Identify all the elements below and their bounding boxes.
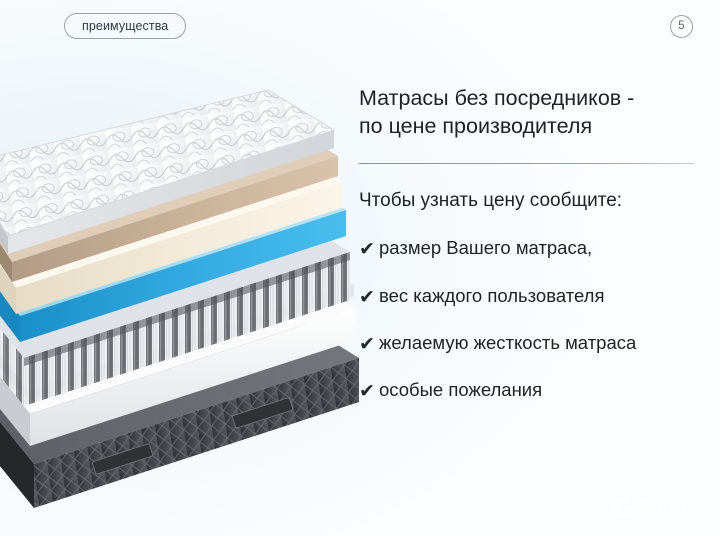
check-icon: ✔ xyxy=(359,335,379,354)
check-icon: ✔ xyxy=(359,382,379,401)
list-item-label: желаемую жесткость матраса xyxy=(379,331,636,354)
list-item-label: вес каждого пользователя xyxy=(379,284,604,307)
page-number-label: 5 xyxy=(678,21,684,33)
page-number-badge: 5 xyxy=(670,15,693,38)
avito-wordmark: Avito xyxy=(637,498,687,519)
check-icon: ✔ xyxy=(359,240,379,259)
benefits-list: ✔ размер Вашего матраса, ✔ вес каждого п… xyxy=(359,236,707,401)
avito-logo-icon xyxy=(612,499,633,518)
check-icon: ✔ xyxy=(359,288,379,307)
list-item: ✔ особые пожелания xyxy=(359,378,707,401)
category-badge: преимущества xyxy=(64,13,186,39)
list-item: ✔ вес каждого пользователя xyxy=(359,284,707,307)
list-item: ✔ желаемую жесткость матраса xyxy=(359,331,707,354)
list-item-label: особые пожелания xyxy=(379,378,542,401)
list-item-label: размер Вашего матраса, xyxy=(379,236,592,259)
subheading: Чтобы узнать цену сообщите: xyxy=(359,189,707,214)
category-badge-label: преимущества xyxy=(82,19,168,33)
divider xyxy=(359,163,694,164)
slide-canvas: преимущества 5 xyxy=(0,0,720,536)
list-item: ✔ размер Вашего матраса, xyxy=(359,236,707,259)
mattress-layers-illustration xyxy=(0,72,364,512)
page-title: Матрасы без посредников - по цене произв… xyxy=(359,84,707,141)
copy-block: Матрасы без посредников - по цене произв… xyxy=(359,84,707,401)
avito-watermark: Avito xyxy=(612,498,687,519)
